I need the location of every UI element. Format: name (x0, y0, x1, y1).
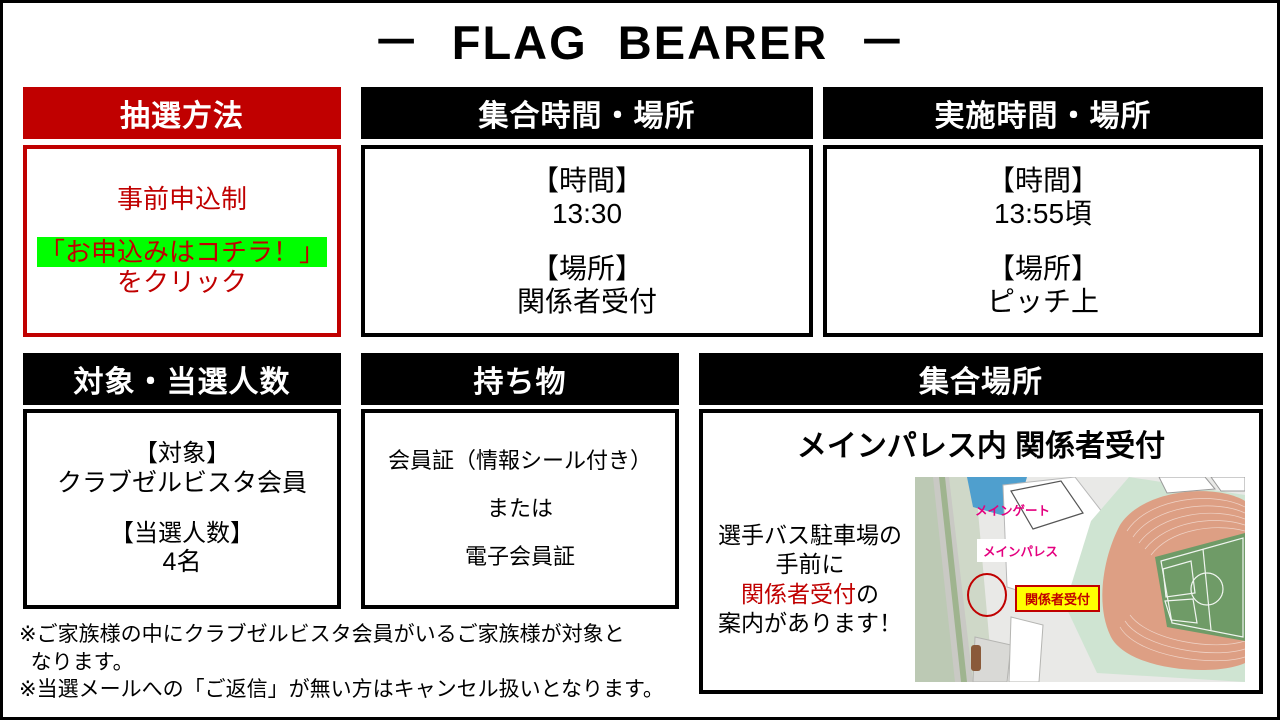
meeting-place-label: 【場所】 (531, 252, 643, 285)
panel-body-lottery-method: 事前申込制 「お申込みはコチラ！」 をクリック (23, 145, 341, 337)
footnotes: ※ご家族様の中にクラブゼルビスタ会員がいるご家族様が対象と なります。 ※当選メ… (19, 621, 695, 704)
panel-heading-items: 持ち物 (361, 353, 679, 405)
note-line-2: 手前に (707, 550, 913, 579)
item-or: または (487, 496, 553, 522)
item-digital-card: 電子会員証 (465, 544, 575, 570)
panel-body-run-time: 【時間】 13:55頃 【場所】 ピッチ上 (823, 145, 1263, 337)
run-place-value: ピッチ上 (987, 285, 1099, 318)
run-time-label: 【時間】 (987, 164, 1099, 197)
panel-body-meeting-place: メインパレス内 関係者受付 選手バス駐車場の 手前に 関係者受付の 案内がありま… (699, 409, 1263, 694)
panel-body-items: 会員証（情報シール付き） または 電子会員証 (361, 409, 679, 609)
item-membership-card: 会員証（情報シール付き） (388, 448, 652, 474)
panel-heading-meeting-place: 集合場所 (699, 353, 1263, 405)
panel-body-target-count: 【対象】 クラブゼルビスタ会員 【当選人数】 4名 (23, 409, 341, 609)
note-line-3-tail: の (856, 581, 879, 607)
panel-heading-meeting-place-label: 集合場所 (919, 357, 1043, 401)
apply-here-highlight[interactable]: 「お申込みはコチラ！」 (37, 237, 327, 268)
lottery-advance-application: 事前申込制 (117, 184, 247, 215)
meeting-time-value: 13:30 (552, 197, 622, 230)
panel-heading-items-label: 持ち物 (474, 357, 567, 401)
panel-heading-meeting-time-label: 集合時間・場所 (479, 91, 696, 135)
note-line-4: 案内があります！ (707, 609, 913, 638)
panel-heading-run-time: 実施時間・場所 (823, 87, 1263, 139)
map-label-main-palace: メインパレス (977, 539, 1064, 562)
page-title: － FLAG BEARER － (3, 5, 1277, 71)
meeting-place-title: メインパレス内 関係者受付 (703, 421, 1259, 465)
footnote-item-2: ※当選メールへの「ご返信」が無い方はキャンセル扱いとなります。 (19, 676, 695, 704)
lottery-apply-link-line: 「お申込みはコチラ！」 (37, 237, 327, 268)
panel-heading-target-count-label: 対象・当選人数 (74, 357, 291, 401)
note-line-3: 関係者受付の (707, 580, 913, 609)
meeting-place-content: 選手バス駐車場の 手前に 関係者受付の 案内があります！ (703, 469, 1259, 690)
panel-heading-meeting-time: 集合時間・場所 (361, 87, 813, 139)
panel-heading-run-time-label: 実施時間・場所 (935, 91, 1152, 135)
page-title-text: － FLAG BEARER － (373, 4, 908, 73)
winner-count-label: 【当選人数】 (110, 520, 254, 548)
run-time-value: 13:55頃 (994, 197, 1092, 230)
footnote-item-1: ※ご家族様の中にクラブゼルビスタ会員がいるご家族様が対象と なります。 (19, 621, 695, 676)
lottery-click-instruction: をクリック (117, 267, 247, 298)
meeting-time-label: 【時間】 (531, 164, 643, 197)
winner-count-value: 4名 (163, 548, 202, 578)
target-value: クラブゼルビスタ会員 (57, 469, 307, 499)
map-label-reception: 関係者受付 (1015, 585, 1100, 612)
note-line-1: 選手バス駐車場の (707, 521, 913, 550)
panel-body-meeting-time: 【時間】 13:30 【場所】 関係者受付 (361, 145, 813, 337)
meeting-place-note: 選手バス駐車場の 手前に 関係者受付の 案内があります！ (703, 521, 913, 639)
stadium-map-graphic (915, 477, 1245, 682)
target-label: 【対象】 (134, 440, 230, 468)
panel-heading-lottery-method-label: 抽選方法 (120, 91, 244, 135)
stadium-map: メインゲート メインパレス 関係者受付 (915, 477, 1245, 682)
panel-heading-target-count: 対象・当選人数 (23, 353, 341, 405)
reception-circle-marker (967, 573, 1007, 617)
run-place-label: 【場所】 (987, 252, 1099, 285)
map-label-main-gate: メインゲート (975, 500, 1050, 519)
note-reception-emphasis: 関係者受付 (741, 581, 856, 607)
meeting-place-value: 関係者受付 (517, 285, 657, 318)
panel-heading-lottery-method: 抽選方法 (23, 87, 341, 139)
flyer-page: － FLAG BEARER － 抽選方法 事前申込制 「お申込みはコチラ！」 を… (0, 0, 1280, 720)
